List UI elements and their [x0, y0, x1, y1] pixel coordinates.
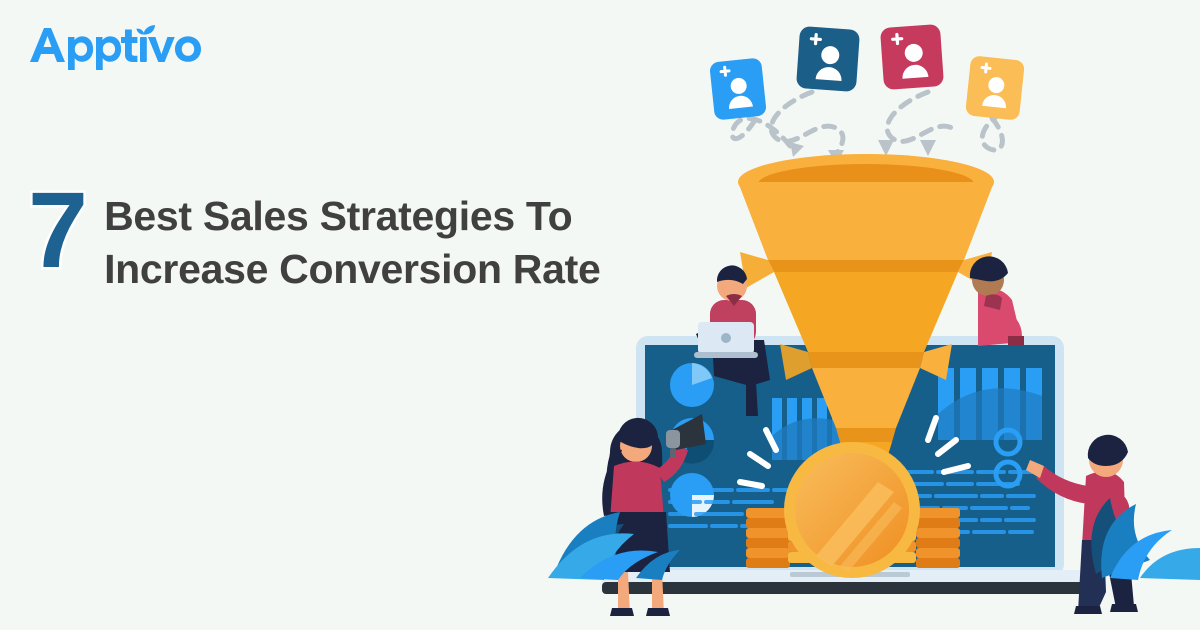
banner: 7 Best Sales Strategies To Increase Conv… [0, 0, 1200, 630]
sales-funnel-illustration [540, 0, 1200, 630]
coin-stack-left [746, 508, 790, 568]
headline-number: 7 [28, 180, 86, 279]
lead-card-2 [796, 26, 860, 92]
lead-card-3 [880, 24, 944, 90]
headline-line-1: Best Sales Strategies To [104, 193, 572, 239]
person-leaning [970, 256, 1024, 346]
bar-chart-right [938, 368, 1042, 440]
coin-stack-right [916, 508, 960, 568]
apptivo-logo[interactable] [26, 18, 206, 70]
headline-text: Best Sales Strategies To Increase Conver… [104, 186, 600, 297]
headline-line-2: Increase Conversion Rate [104, 243, 600, 296]
lead-card-4 [965, 55, 1025, 120]
blue-foliage-right [1091, 498, 1200, 580]
lead-card-1 [709, 57, 767, 120]
